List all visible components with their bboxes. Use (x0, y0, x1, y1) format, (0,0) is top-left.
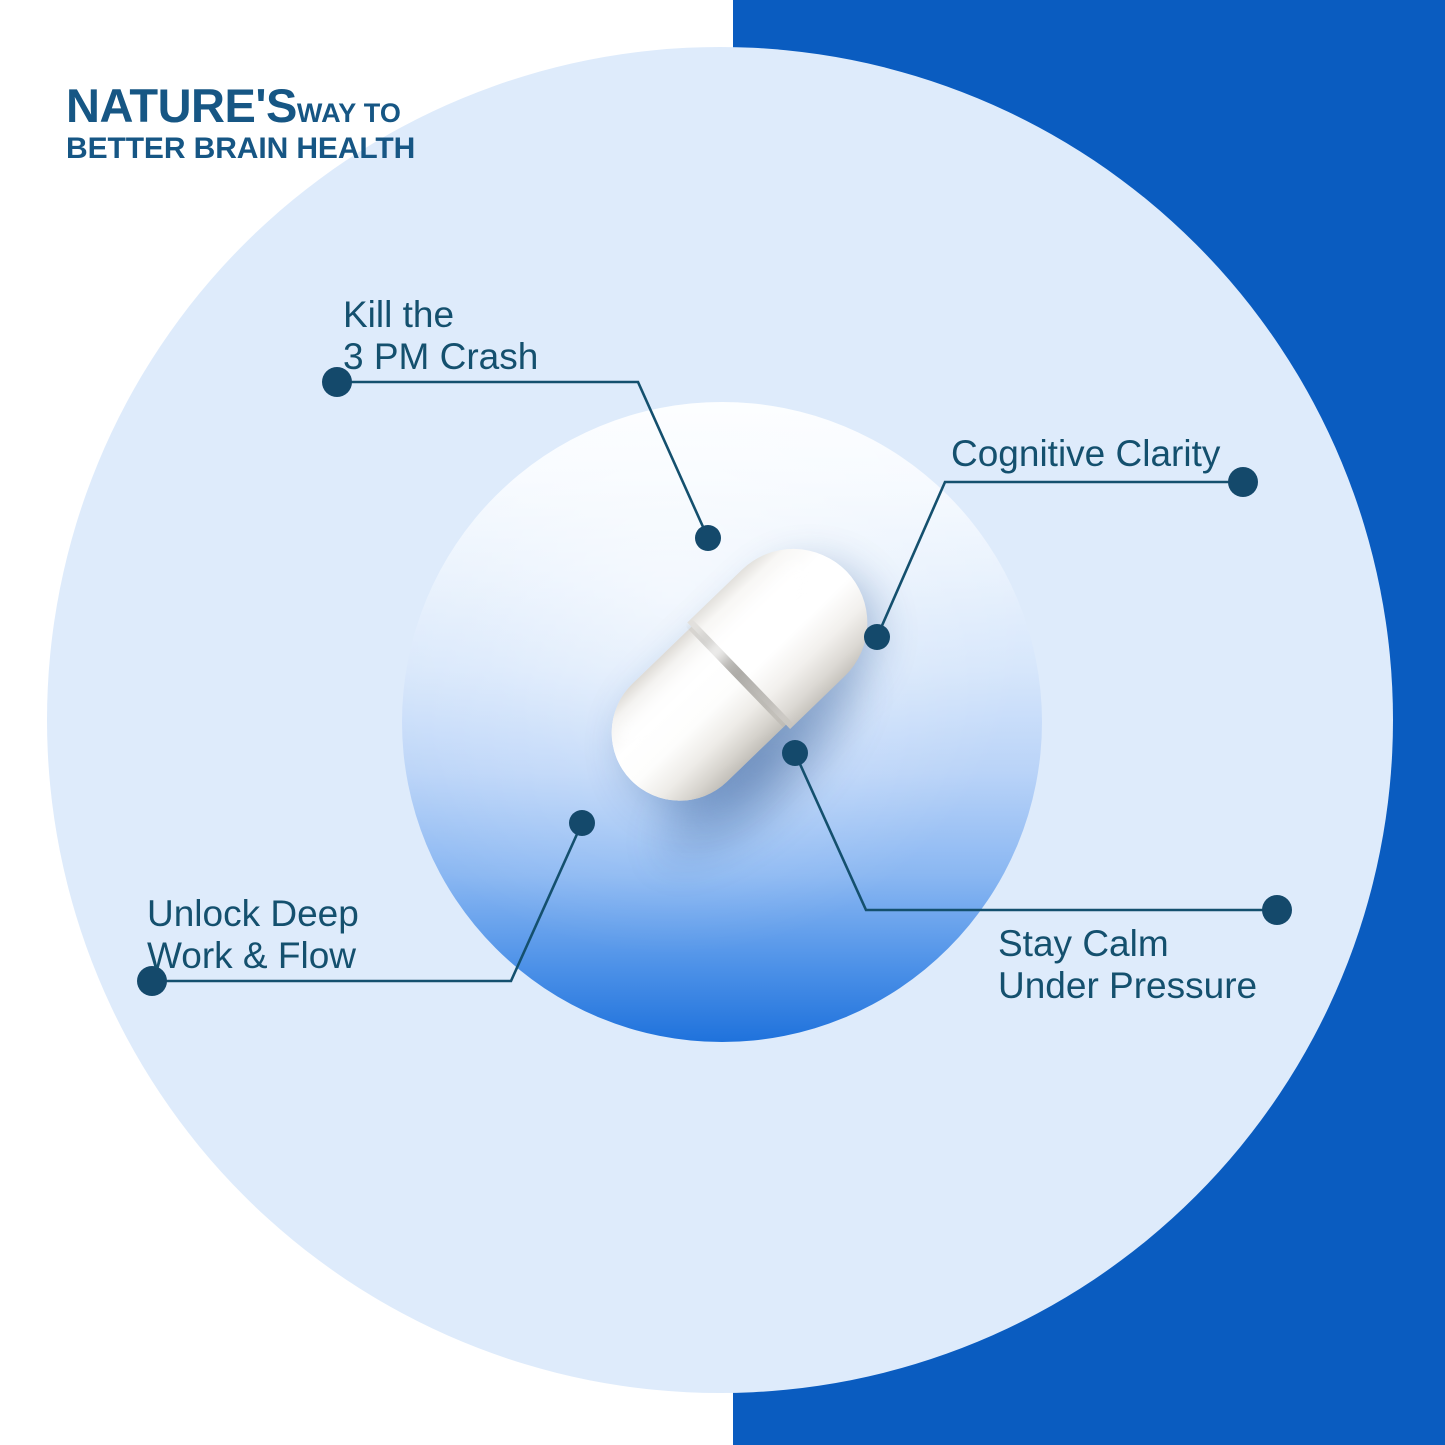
infographic-canvas: NATURE'SWAY TO BETTER BRAIN HEALTH Kill … (0, 0, 1445, 1445)
headline-natures: NATURE'S (66, 79, 297, 132)
callout-label-cognitive-clarity: Cognitive Clarity (951, 433, 1220, 475)
callout-label-kill-the-3pm-crash: Kill the 3 PM Crash (343, 294, 538, 378)
callout-label-unlock-deep-work-and-flow: Unlock Deep Work & Flow (147, 893, 359, 977)
callout-label-stay-calm-under-pressure: Stay Calm Under Pressure (998, 923, 1257, 1007)
headline-block: NATURE'SWAY TO BETTER BRAIN HEALTH (66, 82, 415, 170)
headline-way-to: WAY TO (297, 98, 401, 128)
headline-line-1: NATURE'SWAY TO (66, 82, 415, 129)
headline-line-2: BETTER BRAIN HEALTH (66, 129, 415, 170)
